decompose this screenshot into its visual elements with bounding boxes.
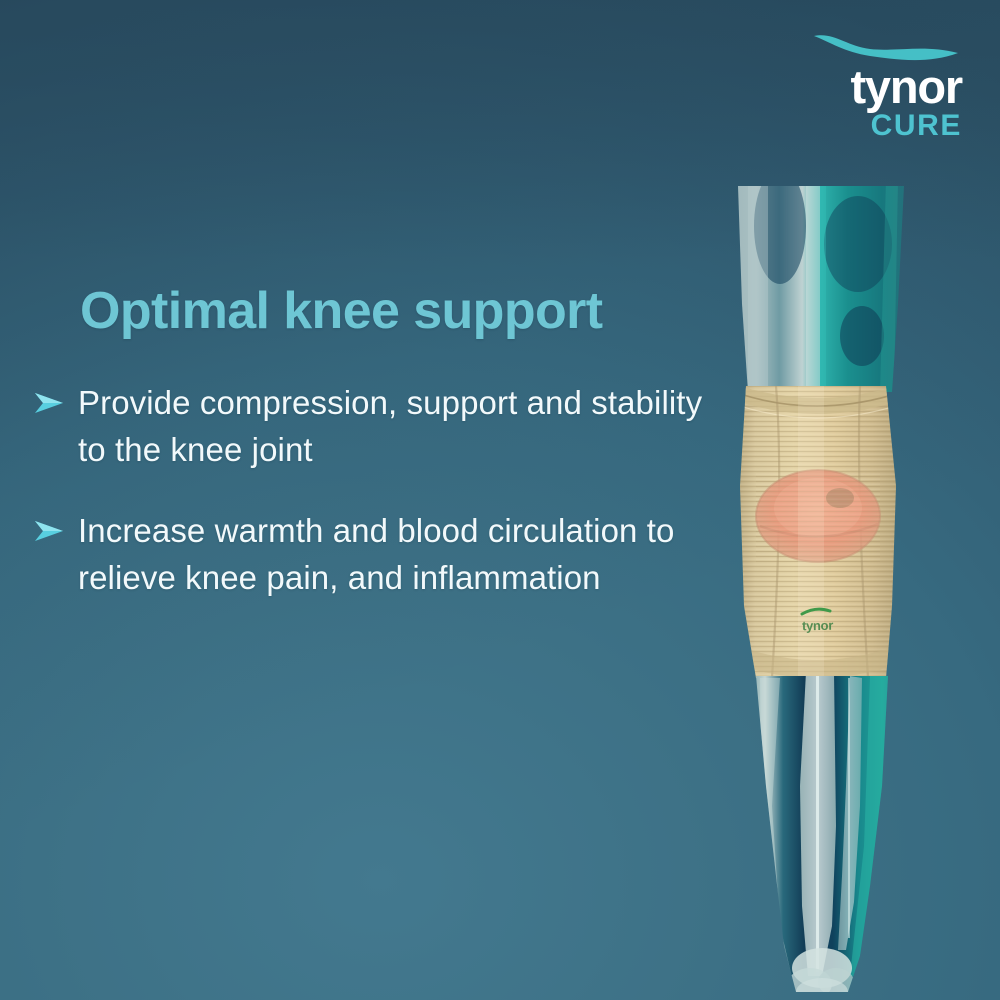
knee-sleeve [730,376,920,696]
sleeve-brand-text: tynor [802,618,833,634]
leg-illustration [710,186,1000,1000]
brand-logo[interactable]: tynor CURE [792,30,962,141]
arrowhead-bullet-icon [34,508,78,543]
arrowhead-bullet-icon [34,380,78,415]
thigh-segment [730,186,920,400]
list-item: Increase warmth and blood circulation to… [34,508,714,602]
page-title: Optimal knee support [80,282,714,340]
calf-segment [750,670,900,1000]
list-item: Provide compression, support and stabili… [34,380,714,474]
brand-subtitle: CURE [792,110,962,141]
wave-swoosh-icon [812,30,962,64]
benefits-list: Provide compression, support and stabili… [34,380,714,601]
product-image: tynor [710,186,1000,1000]
brand-wordmark: tynor [792,64,962,109]
list-item-label: Increase warmth and blood circulation to… [78,508,714,602]
copy-block: Optimal knee support Provide compression… [34,282,714,636]
list-item-label: Provide compression, support and stabili… [78,380,714,474]
